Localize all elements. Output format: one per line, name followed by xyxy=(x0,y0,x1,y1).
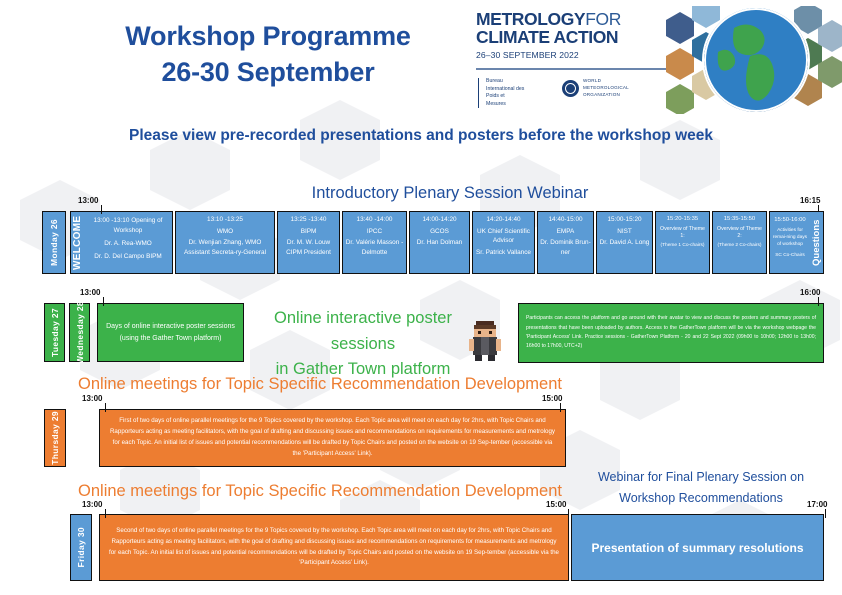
day-tab-friday-label: Friday 30 xyxy=(76,527,86,567)
tuesday-heading-line1: Online interactive poster sessions xyxy=(248,306,478,357)
friday-resolutions-text: Presentation of summary resolutions xyxy=(591,541,803,555)
session-org: BIPM xyxy=(301,227,317,237)
session-speaker: Dr. Valérie Masson -Delmotte xyxy=(345,238,404,257)
session-time: 13:40 -14:00 xyxy=(357,215,393,225)
monday-tick-end: 16:15 xyxy=(800,196,820,205)
thursday-description-box[interactable]: First of two days of online parallel mee… xyxy=(99,409,566,467)
session-time: 13:10 -13:25 xyxy=(207,215,243,225)
tuesday-info-box-text: Participants can access the platform and… xyxy=(526,314,816,352)
friday-description-text: Second of two days of online parallel me… xyxy=(108,526,560,569)
session-org: Overview of Theme 2: xyxy=(715,226,764,241)
friday-webinar-title: Webinar for Final Plenary Session on Wor… xyxy=(560,467,842,508)
friday-tick-start: 13:00 xyxy=(82,500,102,509)
monday-welcome-cell[interactable]: WELCOME 13:00 -13:10 Opening of Workshop… xyxy=(70,211,173,274)
session-org: EMPA xyxy=(557,227,575,237)
friday-tick-end: 17:00 xyxy=(807,500,827,509)
friday-section-title: Online meetings for Topic Specific Recom… xyxy=(60,482,580,501)
bipm-logo: BureauInternational desPoids etMesures xyxy=(478,78,524,108)
session-org: IPCC xyxy=(367,227,382,237)
friday-tick-start-line xyxy=(105,509,106,518)
tuesday-info-box[interactable]: Participants can access the platform and… xyxy=(518,303,824,363)
questions-detail2: SC Co-Chairs xyxy=(771,253,809,260)
session-org: NIST xyxy=(617,227,632,237)
monday-tick-start-line xyxy=(101,205,102,214)
questions-label: Questions xyxy=(810,212,823,273)
session-speaker: Dr. David A. Long xyxy=(600,238,650,247)
session-speaker: Dr. M. W. Louw CIPM President xyxy=(280,238,337,257)
logo-line1: METROLOGYFOR xyxy=(476,10,676,28)
day-tab-tuesday[interactable]: Tuesday 27 xyxy=(44,303,65,362)
logo-divider xyxy=(476,68,666,70)
day-tab-thursday[interactable]: Thursday 29 xyxy=(44,409,66,467)
session-time: 15:35-15:50 xyxy=(724,215,755,224)
monday-session-7[interactable]: 15:00-15:20 NIST Dr. David A. Long xyxy=(596,211,653,274)
thursday-tick-start: 13:00 xyxy=(82,394,102,403)
day-tab-friday[interactable]: Friday 30 xyxy=(70,514,92,581)
logo-line2: CLIMATE ACTION xyxy=(476,28,676,46)
session-speaker: (Theme 2 Co-chairs) xyxy=(718,243,762,250)
welcome-line2: Dr. A. Rea-WMO xyxy=(86,239,170,249)
session-org: Overview of Theme 1: xyxy=(658,226,707,241)
tuesday-tick-start: 13:00 xyxy=(80,288,100,297)
thursday-tick-end: 15:00 xyxy=(542,394,562,403)
wmo-emblem-icon xyxy=(562,80,579,97)
questions-time: 15:50-16:00 xyxy=(771,216,809,225)
monday-session-6[interactable]: 14:40-15:00 EMPA Dr. Dominik Brun-ner xyxy=(537,211,594,274)
session-time: 14:20-14:40 xyxy=(486,215,520,225)
day-tab-monday-label: Monday 26 xyxy=(49,219,59,266)
session-org: UK Chief Scientific Advisor xyxy=(475,227,532,246)
session-org: GCOS xyxy=(430,227,449,237)
session-speaker: Dr. Wenjian Zhang, WMO Assistant Secreta… xyxy=(178,238,272,257)
session-time: 15:20-15:35 xyxy=(667,215,698,224)
friday-tick-mid-line xyxy=(568,509,569,518)
logo-date: 26–30 SEPTEMBER 2022 xyxy=(476,50,676,60)
friday-resolutions-box[interactable]: Presentation of summary resolutions xyxy=(571,514,824,581)
monday-tick-start: 13:00 xyxy=(78,196,98,205)
welcome-line3: Dr. D. Del Campo BIPM xyxy=(86,252,170,262)
logo-line1-thin: FOR xyxy=(585,9,621,29)
tuesday-tick-start-line xyxy=(103,297,104,306)
welcome-vertical-label: WELCOME xyxy=(71,212,84,273)
welcome-line1: 13:00 -13:10 Opening of Workshop xyxy=(86,216,170,236)
session-time: 13:25 -13:40 xyxy=(291,215,327,225)
tuesday-poster-box[interactable]: Days of online interactive poster sessio… xyxy=(97,303,244,362)
monday-section-title: Introductory Plenary Session Webinar xyxy=(200,184,700,203)
thursday-description-text: First of two days of online parallel mee… xyxy=(108,416,557,459)
questions-detail: Activities for remai-ning days of worksh… xyxy=(771,228,809,249)
globe-icon xyxy=(704,8,808,112)
session-speaker: Dr. Han Dolman xyxy=(417,238,462,247)
friday-webinar-title-line1: Webinar for Final Plenary Session on xyxy=(560,467,842,488)
session-time: 15:00-15:20 xyxy=(607,215,641,225)
day-tab-wednesday[interactable]: Wednesday 28 xyxy=(69,303,90,362)
logo-text: METROLOGYFOR CLIMATE ACTION 26–30 SEPTEM… xyxy=(476,10,676,60)
tuesday-heading: Online interactive poster sessions in Ga… xyxy=(248,306,478,383)
monday-questions-cell[interactable]: 15:50-16:00Activities for remai-ning day… xyxy=(769,211,824,274)
page-header: Workshop Programme 26-30 September METRO… xyxy=(0,0,842,118)
page-title: Workshop Programme 26-30 September xyxy=(58,18,478,91)
day-tab-thursday-label: Thursday 29 xyxy=(50,411,60,465)
tuesday-tick-end-line xyxy=(818,297,819,306)
monday-session-5[interactable]: 14:20-14:40 UK Chief Scientific Advisor … xyxy=(472,211,535,274)
thursday-tick-end-line xyxy=(560,403,561,412)
friday-tick-end-line xyxy=(825,509,826,518)
page-title-line2: 26-30 September xyxy=(58,54,478,90)
tuesday-tick-end: 16:00 xyxy=(800,288,820,297)
session-time: 14:40-15:00 xyxy=(548,215,582,225)
tuesday-poster-box-text: Days of online interactive poster sessio… xyxy=(106,321,235,343)
session-org: WMO xyxy=(217,227,233,237)
friday-tick-mid: 15:00 xyxy=(546,500,566,509)
session-speaker: (Theme 1 Co-chairs) xyxy=(661,243,705,250)
monday-session-9[interactable]: 15:35-15:50 Overview of Theme 2: (Theme … xyxy=(712,211,767,274)
day-tab-tuesday-label: Tuesday 27 xyxy=(50,308,60,357)
wmo-logo-text: WORLDMETEOROLOGICALORGANIZATION xyxy=(583,78,629,99)
wmo-logo: WORLDMETEOROLOGICALORGANIZATION xyxy=(562,78,629,99)
monday-session-4[interactable]: 14:00-14:20 GCOS Dr. Han Dolman xyxy=(409,211,470,274)
session-speaker: Sr. Patrick Vallance xyxy=(476,248,531,257)
thursday-section-title: Online meetings for Topic Specific Recom… xyxy=(60,375,580,394)
event-logo: METROLOGYFOR CLIMATE ACTION 26–30 SEPTEM… xyxy=(476,6,842,114)
monday-session-1[interactable]: 13:10 -13:25 WMO Dr. Wenjian Zhang, WMO … xyxy=(175,211,275,274)
day-tab-monday[interactable]: Monday 26 xyxy=(42,211,66,274)
monday-session-8[interactable]: 15:20-15:35 Overview of Theme 1: (Theme … xyxy=(655,211,710,274)
day-tab-wednesday-label: Wednesday 28 xyxy=(75,301,85,364)
logo-line1-bold: METROLOGY xyxy=(476,9,585,29)
monday-session-2[interactable]: 13:25 -13:40 BIPM Dr. M. W. Louw CIPM Pr… xyxy=(277,211,340,274)
session-speaker: Dr. Dominik Brun-ner xyxy=(540,238,591,257)
monday-session-3[interactable]: 13:40 -14:00 IPCC Dr. Valérie Masson -De… xyxy=(342,211,407,274)
friday-description-box[interactable]: Second of two days of online parallel me… xyxy=(99,514,569,581)
gather-town-avatar-icon xyxy=(467,317,503,361)
friday-webinar-title-line2: Workshop Recommendations xyxy=(560,488,842,509)
page-title-line1: Workshop Programme xyxy=(125,21,410,51)
pre-recorded-banner: Please view pre-recorded presentations a… xyxy=(0,127,842,145)
thursday-tick-start-line xyxy=(105,403,106,412)
session-time: 14:00-14:20 xyxy=(422,215,456,225)
